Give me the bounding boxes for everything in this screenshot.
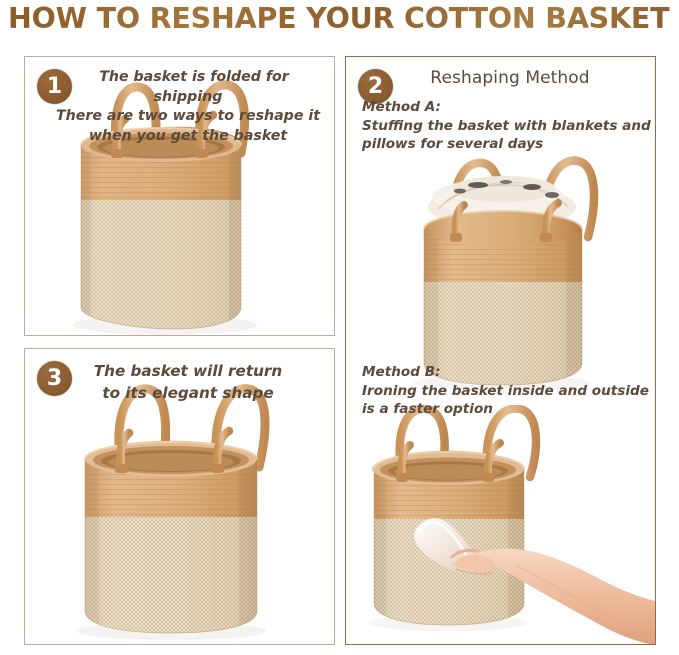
- panel-1-line-1: The basket is folded for shipping: [52, 68, 324, 107]
- panel-1-line-3: when you get the basket: [89, 128, 287, 144]
- page-title: HOW TO RESHAPE YOUR COTTON BASKET: [8, 2, 676, 36]
- method-b-line-1: Ironing the basket inside and outside: [362, 383, 649, 399]
- method-b-line-2: is a faster option: [362, 401, 493, 417]
- panel-3-line-1: The basket will return: [94, 362, 282, 380]
- panel-3-line-2: to its elegant shape: [102, 384, 273, 402]
- method-a-line-2: pillows for several days: [362, 136, 543, 152]
- panel-3-text: The basket will return to its elegant sh…: [62, 360, 314, 404]
- infographic-page: HOW TO RESHAPE YOUR COTTON BASKET: [0, 0, 679, 655]
- method-a-text: Method A: Stuffing the basket with blank…: [362, 98, 652, 154]
- panel-1-text: The basket is folded for shipping There …: [52, 68, 324, 146]
- basket-stuffed-illustration: [346, 149, 655, 399]
- method-b-text: Method B: Ironing the basket inside and …: [362, 363, 652, 419]
- method-a-label: Method A:: [362, 99, 441, 115]
- basket-ironing-illustration: [346, 405, 655, 645]
- panel-1-line-2: There are two ways to reshape it: [56, 108, 320, 124]
- method-a-line-1: Stuffing the basket with blankets and: [362, 118, 651, 134]
- panel-2-heading: Reshaping Method: [410, 68, 610, 88]
- method-b-label: Method B:: [362, 364, 441, 380]
